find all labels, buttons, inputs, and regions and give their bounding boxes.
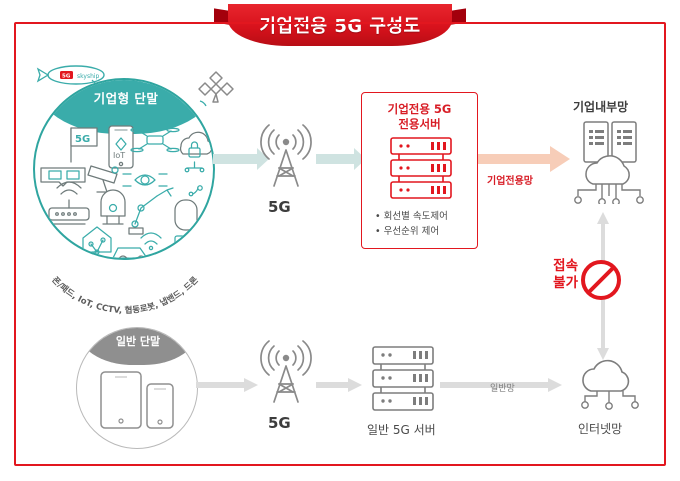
dedicated-server-title-line2: 전용서버 [362,117,477,132]
general-server-icon [371,345,435,419]
smartphone-iot-icon: IoT [109,126,133,168]
dedicated-server-title: 기업전용 5G 전용서버 [362,102,477,132]
no-entry-icon [579,258,623,302]
corporate-network-icon [566,118,652,208]
general-terminal-banner: 일반 단말 [76,327,198,365]
svg-text:5G: 5G [75,134,90,145]
general-server-label: 일반 5G 서버 [367,421,436,438]
svg-text:5G: 5G [62,74,71,80]
tower-5g-general-label: 5G [268,414,291,432]
smart-speaker-icon [175,186,202,230]
security-camera-icon [101,190,125,224]
wifi-router-icon [49,182,89,224]
tower-5g-enterprise-icon [256,124,316,194]
diagram-canvas: 기업전용 5G 구성도 5G skyship [0,0,680,481]
eye-scan-icon [123,174,167,186]
arrow-tower-to-general-server [316,377,362,396]
enterprise-device-caption: 폰/패드, IoT, CCTV, 협동로봇, 냅밴드, 드론 [22,225,228,267]
tower-5g-enterprise-label: 5G [268,198,291,216]
general-network-label: 일반망 [490,381,515,394]
svg-text:skyship: skyship [77,73,100,80]
arrow-general-to-tower [196,377,258,396]
dedicated-server-panel: 기업전용 5G 전용서버 • 회선별 속도제어 • 우선순위 [361,92,478,249]
general-terminal-circle: 일반 단말 [76,327,198,449]
dedicated-server-title-line1: 기업전용 5G [362,102,477,117]
dedicated-server-features: • 회선별 속도제어 • 우선순위 제어 [375,209,448,239]
cloud-lock-icon [180,132,211,172]
svg-text:IoT: IoT [113,151,125,160]
blocked-access-line2: 불가 [534,275,578,292]
general-terminal-label: 일반 단말 [76,333,198,349]
internet-network-label: 인터넷망 [578,420,622,437]
dedicated-server-rack-icon [389,136,453,202]
enterprise-terminal-label: 기업형 단말 [33,88,215,107]
general-device-icons [99,370,181,432]
internet-cloud-icon [573,348,647,418]
drone-icon [131,128,179,151]
phone-icon [147,384,173,428]
flag-5g-icon: 5G [71,128,97,162]
blocked-access-line1: 접속 [534,258,578,275]
corporate-network-label: 기업내부망 [573,98,628,115]
blocked-access-label: 접속 불가 [534,258,578,292]
arrow-tower-to-server [316,148,366,174]
tower-5g-general-icon [256,340,316,410]
tablet-icon [101,372,141,428]
feature-bullet-1: • 회선별 속도제어 [375,209,448,224]
cctv-camera-icon [88,166,118,192]
feature-bullet-2: • 우선순위 제어 [375,224,448,239]
dedicated-network-label: 기업전용망 [487,172,533,187]
